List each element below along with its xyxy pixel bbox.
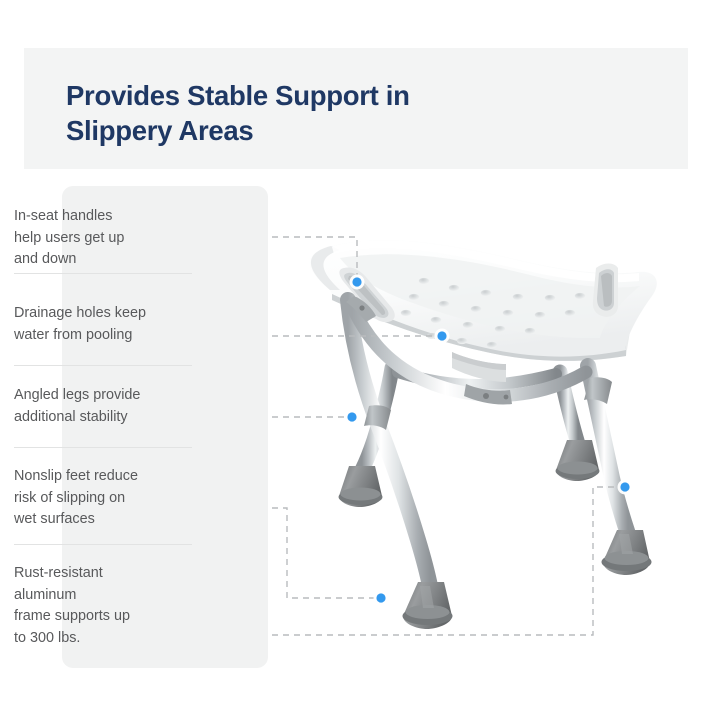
- callout-dot-legs[interactable]: [345, 410, 360, 425]
- callout-dot-drainage[interactable]: [435, 329, 450, 344]
- callout-dot-feet[interactable]: [374, 591, 389, 606]
- callout-dot-frame[interactable]: [618, 480, 633, 495]
- connector-handles: [272, 237, 357, 276]
- callout-connectors: [0, 0, 720, 720]
- connector-feet: [272, 508, 375, 598]
- infographic-canvas: Provides Stable Support in Slippery Area…: [0, 0, 720, 720]
- connector-frame: [272, 487, 619, 635]
- callout-dot-handles[interactable]: [350, 275, 365, 290]
- callout-markers: [345, 275, 633, 606]
